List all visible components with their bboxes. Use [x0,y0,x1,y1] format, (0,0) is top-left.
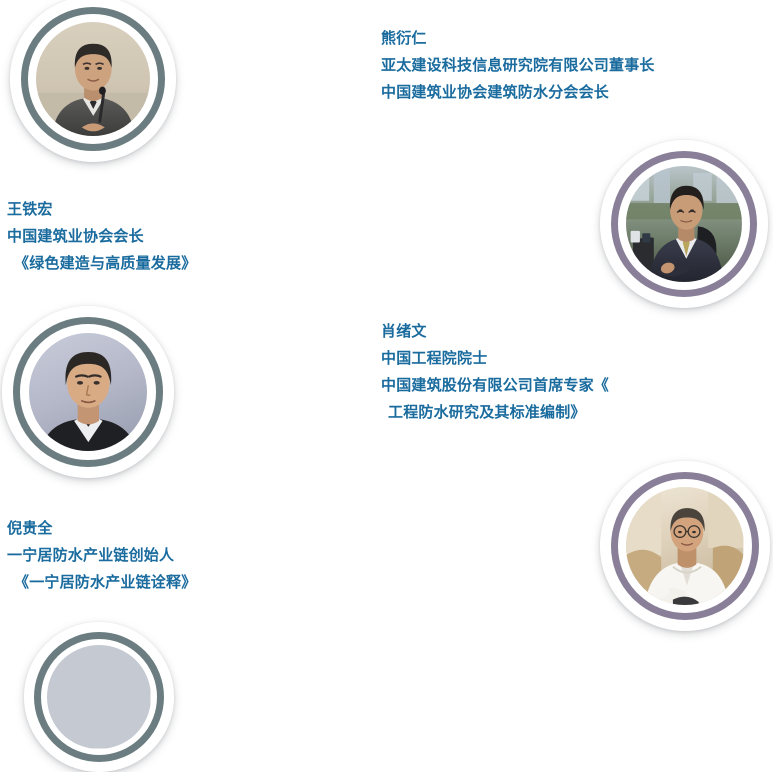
speaker-topic: 《绿色建造与高质量发展》 [7,250,196,277]
speaker-title: 中国建筑业协会会长 [7,223,196,250]
speaker-name: 王铁宏 [7,196,196,223]
portrait-xiao-xuwen [29,333,148,452]
avatar-ni-guiquan[interactable] [600,461,770,631]
speaker-name: 倪贵全 [7,515,196,542]
avatar-wang-tiehong[interactable] [10,0,176,162]
speaker-title: 一宁居防水产业链创始人 [7,542,196,569]
speaker-title: 中国工程院院士 [381,345,609,372]
portrait-wang-tiehong [36,22,151,137]
speaker-info-wang-tiehong: 王铁宏 中国建筑业协会会长 《绿色建造与高质量发展》 [7,196,196,277]
speaker-topic: 《一宁居防水产业链诠释》 [7,569,196,596]
speaker-info-ni-guiquan: 倪贵全 一宁居防水产业链创始人 《一宁居防水产业链诠释》 [7,515,196,596]
portrait-xiong-yanren [626,166,742,282]
speaker-profile-board: 熊衍仁 亚太建设科技信息研究院有限公司董事长 中国建筑业协会建筑防水分会会长 王… [0,0,773,633]
speaker-name: 熊衍仁 [381,25,655,52]
speaker-title-secondary: 中国建筑股份有限公司首席专家《 [381,372,609,399]
avatar-xiao-xuwen[interactable] [2,306,174,478]
avatar-xiong-yanren[interactable] [600,140,768,308]
speaker-title: 亚太建设科技信息研究院有限公司董事长 [381,52,655,79]
speaker-info-xiong-yanren: 熊衍仁 亚太建设科技信息研究院有限公司董事长 中国建筑业协会建筑防水分会会长 [381,25,655,106]
portrait-next-partial [47,645,151,749]
speaker-name: 肖绪文 [381,318,609,345]
avatar-next-partial[interactable] [24,622,174,772]
speaker-info-xiao-xuwen: 肖绪文 中国工程院院士 中国建筑股份有限公司首席专家《 工程防水研究及其标准编制… [381,318,609,426]
portrait-ni-guiquan [626,487,743,604]
speaker-topic: 工程防水研究及其标准编制》 [381,399,609,426]
speaker-title-secondary: 中国建筑业协会建筑防水分会会长 [381,79,655,106]
